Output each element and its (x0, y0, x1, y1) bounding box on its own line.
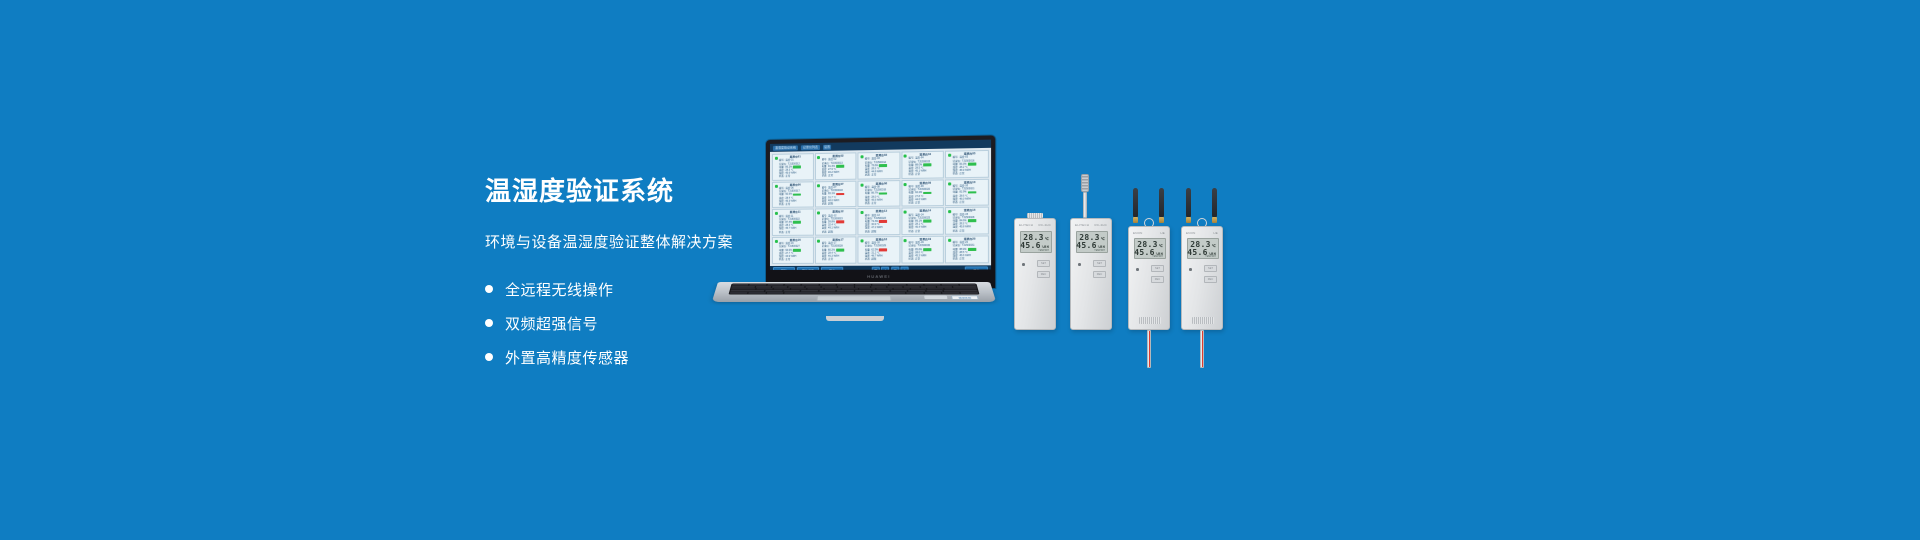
monitor-card-row-key: 状态: (908, 230, 914, 233)
device-c-led-icon (1136, 268, 1139, 271)
page-last-button[interactable]: 末 (901, 267, 909, 270)
device-d-probe-marker (1202, 331, 1203, 367)
monitor-card-row-key: 状态: (779, 231, 784, 234)
monitor-card-row-key: 状态: (865, 258, 871, 261)
monitor-card-row-value: 正常 (785, 175, 790, 178)
laptop-trackpad[interactable] (816, 296, 891, 301)
monitor-card-status-led-icon (948, 239, 951, 242)
monitor-card-status-led-icon (774, 184, 777, 187)
monitor-card-status-led-icon (904, 183, 907, 186)
monitor-card-row-value: 超限 (871, 230, 876, 233)
monitor-card-row: 状态:超限 (822, 202, 855, 206)
monitor-card-row: 状态:超限 (865, 230, 898, 234)
monitor-card[interactable]: 监测点02编号:温度-02记录仪:TJ1500013电量:91.4%温度:27.… (815, 152, 857, 180)
monitor-card-row: 状态:正常 (779, 258, 812, 261)
device-d-probe (1200, 330, 1204, 368)
monitor-card-status-chip (836, 221, 844, 224)
monitor-card-row-value: 正常 (828, 174, 833, 177)
device-d-brandrow: ENON HE (1186, 231, 1218, 235)
monitor-card-row-key: 状态: (779, 258, 784, 261)
keyboard-key[interactable] (906, 292, 923, 294)
export-button[interactable]: 导出 (821, 267, 843, 270)
monitor-card[interactable]: 监测点13编号:温度-13记录仪:TJ1500024电量:74.3%温度:30.… (858, 208, 901, 235)
device-a-set-button[interactable]: SET (1037, 260, 1050, 267)
monitor-card-status-led-icon (774, 157, 777, 160)
monitor-card-row-value: 正常 (915, 173, 920, 176)
monitor-card-status-led-icon (817, 212, 820, 215)
monitor-card[interactable]: 监测点12编号:温度-12记录仪:TJ1500023电量:59.8%温度:32.… (815, 208, 857, 235)
monitor-card[interactable]: 监测点15编号:温度-15记录仪:TJ1500026电量:84.6%温度:28.… (945, 207, 989, 235)
monitor-card-row: 状态:正常 (953, 229, 987, 233)
monitor-card-row-value: 正常 (785, 203, 790, 206)
keyboard-key[interactable] (924, 292, 941, 294)
device-d-led-icon (1189, 268, 1192, 271)
device-a-lcd: 28.3 ℃ 45.6 %RH TEMP/RH (1020, 231, 1052, 253)
device-b-sensor-tip (1081, 174, 1089, 192)
start-record-button[interactable]: 开始记录 (797, 267, 819, 270)
device-c-lcd-tag: TEMP/RH (1152, 255, 1163, 258)
page-next-button[interactable]: 下 (891, 267, 899, 270)
monitor-card[interactable]: 监测点17编号:温度-17记录仪:TJ1500028电量:80.2%温度:28.… (815, 236, 857, 263)
device-a: ELITECH RC-4HC 28.3 ℃ 45.6 %RH TEMP/RH S… (1014, 218, 1056, 330)
monitor-card-row-key: 状态: (822, 230, 827, 233)
monitor-card-status-led-icon (948, 210, 951, 213)
device-a-model: RC-4HC (1038, 223, 1051, 227)
device-c: ENON HE 28.3 ℃ 45.6 %RH TEMP/RH SET (1128, 226, 1170, 330)
device-c-probe-marker (1149, 331, 1150, 367)
monitor-card-row-value: 正常 (915, 258, 920, 261)
feature-label: 双频超强信号 (505, 313, 598, 334)
monitor-card-status-chip (793, 221, 801, 224)
monitor-card[interactable]: 监测点04编号:温度-04记录仪:TJ1500015电量:88.0%温度:28.… (901, 151, 944, 179)
bullet-dot-icon (485, 353, 493, 361)
monitor-card-row: 状态:超限 (865, 258, 898, 261)
device-d: ENON HE 28.3 ℃ 45.6 %RH TEMP/RH SET (1181, 226, 1223, 330)
monitor-card-row-value: 正常 (785, 230, 790, 233)
monitor-card-status-chip (923, 248, 931, 251)
monitor-card[interactable]: 监测点18编号:温度-18记录仪:TJ1500029电量:62.5%温度:31.… (858, 236, 901, 263)
device-b-set-button[interactable]: SET (1093, 260, 1106, 267)
monitor-card-status-chip (968, 248, 976, 251)
keyboard-key[interactable] (942, 292, 960, 294)
device-d-brand: ENON (1186, 231, 1195, 235)
monitor-card-row-value: 正常 (915, 229, 920, 232)
monitor-card-row-value: 超限 (828, 202, 833, 205)
monitor-card-row: 状态:正常 (822, 258, 855, 261)
monitor-card-status-led-icon (774, 240, 777, 243)
app-bottombar: 刷新 开始记录 导出 首 上 下 末 退出 (770, 265, 991, 270)
monitor-card-status-chip (879, 192, 887, 195)
monitor-card-row: 状态:正常 (908, 201, 942, 205)
device-c-set-button[interactable]: SET (1151, 265, 1164, 272)
device-d-rec-button[interactable]: REC (1204, 276, 1217, 283)
monitor-card-row-value: 正常 (959, 257, 964, 260)
bullet-dot-icon (485, 319, 493, 327)
monitor-card-row-key: 状态: (953, 172, 959, 175)
monitor-card[interactable]: 监测点06编号:温度-06记录仪:TJ1500017电量:90.5%温度:28.… (772, 181, 814, 208)
monitor-card-row-key: 状态: (822, 202, 827, 205)
monitor-card-row-key: 状态: (779, 203, 784, 206)
monitor-card-row: 状态:正常 (865, 173, 898, 177)
feature-label: 外置高精度传感器 (505, 347, 629, 368)
monitor-card-row-value: 正常 (871, 174, 876, 177)
monitor-card-row-key: 状态: (953, 229, 959, 232)
device-c-brandrow: ENON HE (1133, 231, 1165, 235)
device-b-rec-button[interactable]: REC (1093, 271, 1106, 278)
device-d-set-button[interactable]: SET (1204, 265, 1217, 272)
monitor-card[interactable]: 监测点09编号:温度-09记录仪:TJ1500020电量:92.2%温度:27.… (901, 179, 944, 207)
monitor-card-row: 状态:正常 (953, 200, 987, 204)
monitor-card-status-chip (836, 249, 844, 252)
monitor-card[interactable]: 监测点20编号:温度-20记录仪:TJ1500031电量:88.9%温度:28.… (945, 235, 989, 263)
palmrest-product-label: 验证系统 (951, 296, 979, 300)
device-d-antenna-right-base (1212, 217, 1217, 223)
refresh-button[interactable]: 刷新 (773, 267, 795, 270)
monitor-card-status-chip (793, 249, 801, 252)
monitor-card-row: 状态:正常 (779, 230, 812, 233)
monitor-card-status-chip (923, 163, 931, 166)
device-b-led-icon (1078, 263, 1081, 266)
monitor-card[interactable]: 监测点07编号:温度-07记录仪:TJ1500018电量:65.1%温度:31.… (815, 180, 857, 207)
device-d-lcd: 28.3 ℃ 45.6 %RH TEMP/RH (1187, 238, 1219, 259)
device-d-body: ENON HE 28.3 ℃ 45.6 %RH TEMP/RH SET (1181, 226, 1223, 330)
laptop-screen: 温湿度验证系统 记录仪列表 设置 监测点01编号:温度-01记录仪:TJ1500… (770, 140, 991, 270)
app-tab-logger-list[interactable]: 记录仪列表 (801, 144, 820, 149)
device-c-antenna-left (1133, 188, 1138, 218)
device-a-led-icon (1022, 263, 1025, 266)
device-group: ELITECH RC-4HC 28.3 ℃ 45.6 %RH TEMP/RH S… (1000, 178, 1230, 363)
keyboard-key[interactable] (961, 292, 979, 294)
monitor-card-status-chip (923, 192, 931, 195)
monitor-card-status-chip (879, 164, 887, 167)
keyboard-row (730, 292, 979, 294)
monitor-card-row-value: 正常 (959, 201, 964, 204)
monitor-card-row-key: 状态: (865, 174, 871, 177)
keyboard-key[interactable] (784, 292, 905, 294)
feature-label: 全远程无线操作 (505, 279, 614, 300)
monitor-card-row: 状态:正常 (953, 257, 987, 260)
monitor-card-row-value: 超限 (828, 230, 833, 233)
device-c-probe (1147, 330, 1151, 368)
monitor-card-status-led-icon (948, 154, 951, 157)
monitor-card-row-key: 状态: (953, 201, 959, 204)
monitor-card-row: 状态:正常 (908, 229, 942, 233)
device-b-body: ELITECH RC-4HC 28.3 ℃ 45.6 %RH TEMP/RH S… (1070, 218, 1112, 330)
monitor-card-row-key: 状态: (822, 174, 827, 177)
monitor-card-row-key: 状态: (779, 175, 784, 178)
palmrest-sticker-blank (924, 296, 947, 299)
monitor-card-status-chip (793, 166, 801, 169)
keyboard-key[interactable] (748, 292, 766, 294)
device-d-vent-grille (1192, 317, 1214, 324)
monitor-card-status-chip (793, 193, 801, 196)
monitor-card-row-key: 状态: (908, 173, 914, 176)
laptop-keyboard[interactable] (729, 284, 980, 295)
monitor-card-row-key: 状态: (865, 230, 871, 233)
monitor-card-status-chip (836, 165, 844, 168)
monitor-card-row-key: 状态: (865, 202, 871, 205)
keyboard-key[interactable] (766, 292, 783, 294)
monitor-card-status-chip (968, 191, 976, 194)
monitor-card[interactable]: 监测点10编号:温度-10记录仪:TJ1500021电量:81.9%温度:28.… (945, 178, 989, 206)
device-c-antenna-right-base (1159, 217, 1164, 223)
monitor-card-status-led-icon (817, 240, 820, 243)
monitor-card-row: 状态:正常 (908, 258, 942, 261)
monitor-card-status-led-icon (860, 239, 863, 242)
monitor-card-row-value: 超限 (871, 258, 876, 261)
monitor-card-status-led-icon (904, 211, 907, 214)
monitor-card-status-chip (879, 248, 887, 251)
device-c-lcd: 28.3 ℃ 45.6 %RH TEMP/RH (1134, 238, 1166, 259)
monitor-card-row-key: 状态: (908, 201, 914, 204)
monitor-card-status-chip (923, 220, 931, 223)
device-a-rec-button[interactable]: REC (1037, 271, 1050, 278)
monitor-card-row: 状态:正常 (779, 175, 812, 179)
monitor-card[interactable]: 监测点16编号:温度-16记录仪:TJ1500027电量:93.0%温度:27.… (772, 237, 814, 264)
monitor-card-row-key: 状态: (822, 258, 827, 261)
app-tab-settings[interactable]: 设置 (823, 144, 831, 149)
device-c-antenna-right (1159, 188, 1164, 218)
device-a-brandrow: ELITECH RC-4HC (1019, 223, 1051, 227)
bullet-dot-icon (485, 285, 493, 293)
laptop-lid: 温湿度验证系统 记录仪列表 设置 监测点01编号:温度-01记录仪:TJ1500… (766, 135, 995, 288)
monitor-card-grid: 监测点01编号:温度-01记录仪:TJ1500012电量:85.2%温度:28.… (770, 148, 991, 266)
monitor-card[interactable]: 监测点03编号:温度-03记录仪:TJ1500014电量:78.6%温度:28.… (858, 152, 901, 180)
monitor-card-status-led-icon (774, 212, 777, 215)
monitor-card-row-value: 正常 (871, 202, 876, 205)
device-c-rec-button[interactable]: REC (1151, 276, 1164, 283)
device-a-lcd-tag: TEMP/RH (1038, 249, 1049, 252)
monitor-card-row-value: 正常 (828, 258, 833, 261)
monitor-card[interactable]: 监测点08编号:温度-08记录仪:TJ1500019电量:86.7%温度:28.… (858, 180, 901, 208)
device-b-lcd-tag: TEMP/RH (1094, 249, 1105, 252)
device-d-model: HE (1213, 231, 1218, 235)
monitor-card-row-key: 状态: (908, 258, 914, 261)
keyboard-key[interactable] (730, 292, 748, 294)
device-b-model: RC-4HC (1094, 223, 1107, 227)
device-a-body: ELITECH RC-4HC 28.3 ℃ 45.6 %RH TEMP/RH S… (1014, 218, 1056, 330)
monitor-card-status-led-icon (860, 183, 863, 186)
monitor-card[interactable]: 监测点14编号:温度-14记录仪:TJ1500025电量:89.1%温度:28.… (901, 207, 944, 235)
device-b-lcd: 28.3 ℃ 45.6 %RH TEMP/RH (1076, 231, 1108, 253)
monitor-card-row: 状态:正常 (822, 174, 855, 178)
monitor-card-status-chip (879, 220, 887, 223)
monitor-card-row: 状态:超限 (822, 230, 855, 233)
monitor-card-status-led-icon (860, 155, 863, 158)
monitor-card-row-value: 正常 (959, 229, 964, 232)
monitor-card-status-chip (968, 219, 976, 222)
feature-item-2: 双频超强信号 (485, 310, 905, 336)
exit-button[interactable]: 退出 (965, 266, 988, 270)
monitor-card-row: 状态:正常 (953, 172, 987, 176)
page-prev-button[interactable]: 上 (881, 267, 889, 270)
monitor-card-row-key: 状态: (953, 258, 959, 261)
monitor-card-row: 状态:正常 (779, 203, 812, 207)
pagination: 首 上 下 末 (872, 267, 909, 270)
app-tab-dashboard[interactable]: 温湿度验证系统 (773, 145, 798, 150)
laptop-base: 验证系统 (712, 282, 996, 302)
monitor-card-row: 状态:正常 (908, 173, 942, 177)
monitor-card[interactable]: 监测点19编号:温度-19记录仪:TJ1500030电量:85.8%温度:28.… (901, 236, 944, 263)
monitor-card-status-chip (836, 193, 844, 196)
device-b-brandrow: ELITECH RC-4HC (1075, 223, 1107, 227)
device-d-antenna-left (1186, 188, 1191, 218)
device-c-brand: ENON (1133, 231, 1142, 235)
monitor-card-status-led-icon (817, 156, 820, 159)
device-a-brand: ELITECH (1019, 223, 1033, 227)
monitor-card-row-value: 正常 (785, 258, 790, 261)
feature-item-3: 外置高精度传感器 (485, 344, 905, 370)
device-c-antenna-left-base (1133, 217, 1138, 223)
device-d-antenna-right (1212, 188, 1217, 218)
monitor-card-status-led-icon (860, 211, 863, 214)
device-c-body: ENON HE 28.3 ℃ 45.6 %RH TEMP/RH SET (1128, 226, 1170, 330)
page-first-button[interactable]: 首 (872, 267, 880, 270)
monitor-card-row: 状态:正常 (865, 202, 898, 206)
laptop-product-image: 温湿度验证系统 记录仪列表 设置 监测点01编号:温度-01记录仪:TJ1500… (718, 140, 990, 300)
device-d-antenna-left-base (1186, 217, 1191, 223)
monitor-card-row-value: 正常 (915, 201, 920, 204)
promo-banner: 温湿度验证系统 环境与设备温湿度验证整体解决方案 全远程无线操作 双频超强信号 … (0, 0, 1920, 540)
laptop-front-lip (826, 316, 884, 321)
monitor-card-status-led-icon (948, 182, 951, 185)
monitor-card[interactable]: 监测点05编号:温度-05记录仪:TJ1500016电量:83.3%温度:28.… (945, 150, 989, 178)
laptop-brand-logo: HUAWEI (770, 269, 991, 282)
monitor-card[interactable]: 监测点01编号:温度-01记录仪:TJ1500012电量:85.2%温度:28.… (772, 153, 814, 180)
monitor-card-status-led-icon (904, 154, 907, 157)
monitor-card-status-led-icon (904, 239, 907, 242)
device-c-vent-grille (1139, 317, 1161, 324)
monitor-card-status-chip (968, 163, 976, 166)
device-b: ELITECH RC-4HC 28.3 ℃ 45.6 %RH TEMP/RH S… (1070, 218, 1112, 330)
device-c-model: HE (1160, 231, 1165, 235)
device-b-brand: ELITECH (1075, 223, 1089, 227)
device-b-sensor-stem (1083, 192, 1087, 218)
monitor-card-status-led-icon (817, 184, 820, 187)
device-d-lcd-tag: TEMP/RH (1205, 255, 1216, 258)
monitor-card[interactable]: 监测点11编号:温度-11记录仪:TJ1500022电量:87.4%温度:28.… (772, 209, 814, 236)
monitor-card-row-value: 正常 (959, 172, 964, 175)
